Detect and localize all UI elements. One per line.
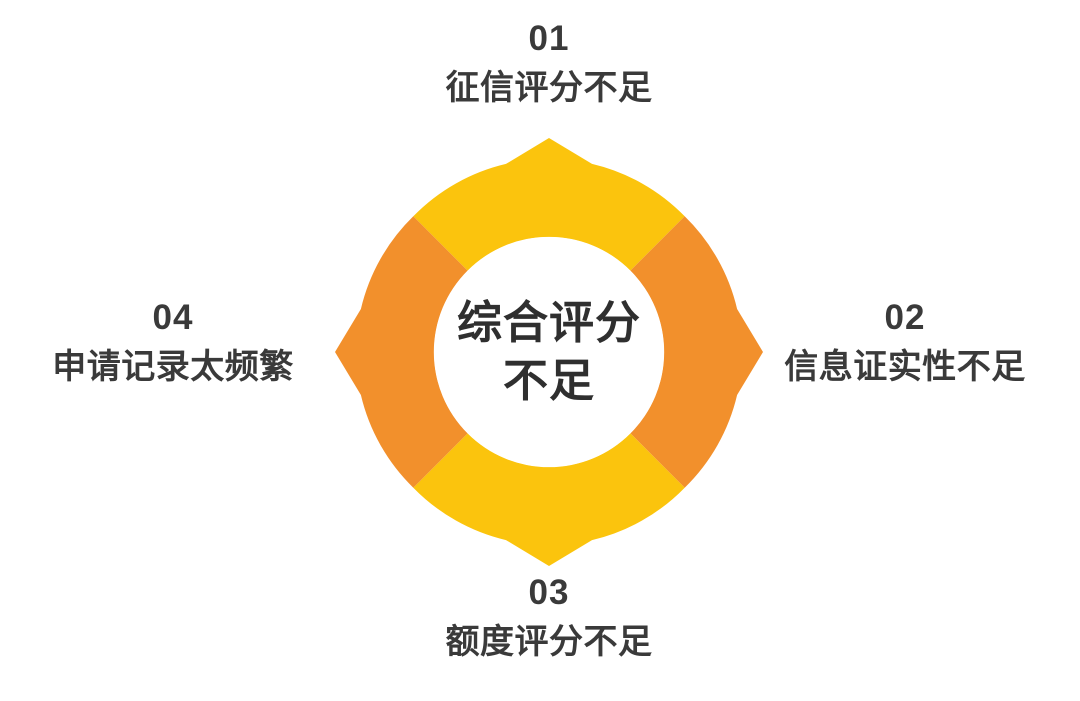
label-item-02: 02 信息证实性不足 — [740, 297, 1070, 389]
label-number-03: 03 — [249, 572, 849, 613]
ring-inner-disc — [434, 237, 664, 467]
label-number-01: 01 — [249, 18, 849, 59]
label-title-03: 额度评分不足 — [249, 621, 849, 664]
label-title-04: 申请记录太频繁 — [8, 346, 338, 389]
infographic-canvas: 综合评分 不足 01 征信评分不足 02 信息证实性不足 03 额度评分不足 0… — [0, 0, 1080, 701]
label-title-01: 征信评分不足 — [249, 67, 849, 110]
donut-ring-graphic — [331, 134, 767, 570]
label-item-04: 04 申请记录太频繁 — [8, 297, 338, 389]
label-item-01: 01 征信评分不足 — [249, 18, 849, 110]
label-number-04: 04 — [8, 297, 338, 338]
label-title-02: 信息证实性不足 — [740, 346, 1070, 389]
label-item-03: 03 额度评分不足 — [249, 572, 849, 664]
label-number-02: 02 — [740, 297, 1070, 338]
